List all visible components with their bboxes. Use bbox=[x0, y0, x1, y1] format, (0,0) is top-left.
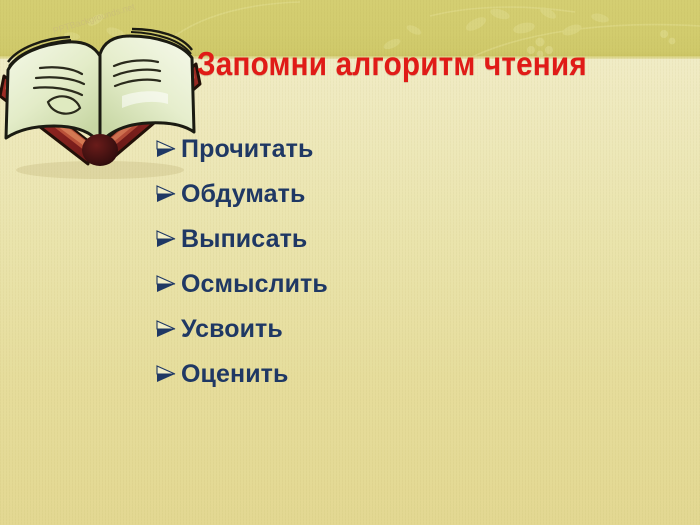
list-item: Обдумать bbox=[155, 171, 328, 216]
list-item-label: Обдумать bbox=[181, 180, 306, 208]
arrowhead-bullet-icon bbox=[155, 273, 181, 295]
arrowhead-bullet-icon bbox=[155, 138, 181, 160]
page-title: Запомни алгоритм чтения bbox=[197, 44, 557, 84]
arrowhead-bullet-icon bbox=[155, 228, 181, 250]
arrowhead-bullet-icon bbox=[155, 363, 181, 385]
list-item: Выписать bbox=[155, 216, 328, 261]
list-item-label: Усвоить bbox=[181, 315, 283, 343]
presentation-slide: PPTBackgrounds.net Запомни алгоритм чтен… bbox=[0, 0, 700, 525]
list-item-label: Оценить bbox=[181, 360, 289, 388]
list-item: Прочитать bbox=[155, 126, 328, 171]
svg-text:PPTBackgrounds.net: PPTBackgrounds.net bbox=[52, 4, 137, 36]
algorithm-steps-list: Прочитать Обдумать Выписать bbox=[155, 126, 328, 396]
list-item: Оценить bbox=[155, 351, 328, 396]
list-item-label: Прочитать bbox=[181, 135, 313, 163]
list-item: Осмыслить bbox=[155, 261, 328, 306]
arrowhead-bullet-icon bbox=[155, 318, 181, 340]
arrowhead-bullet-icon bbox=[155, 183, 181, 205]
list-item-label: Выписать bbox=[181, 225, 307, 253]
list-item-label: Осмыслить bbox=[181, 270, 328, 298]
list-item: Усвоить bbox=[155, 306, 328, 351]
